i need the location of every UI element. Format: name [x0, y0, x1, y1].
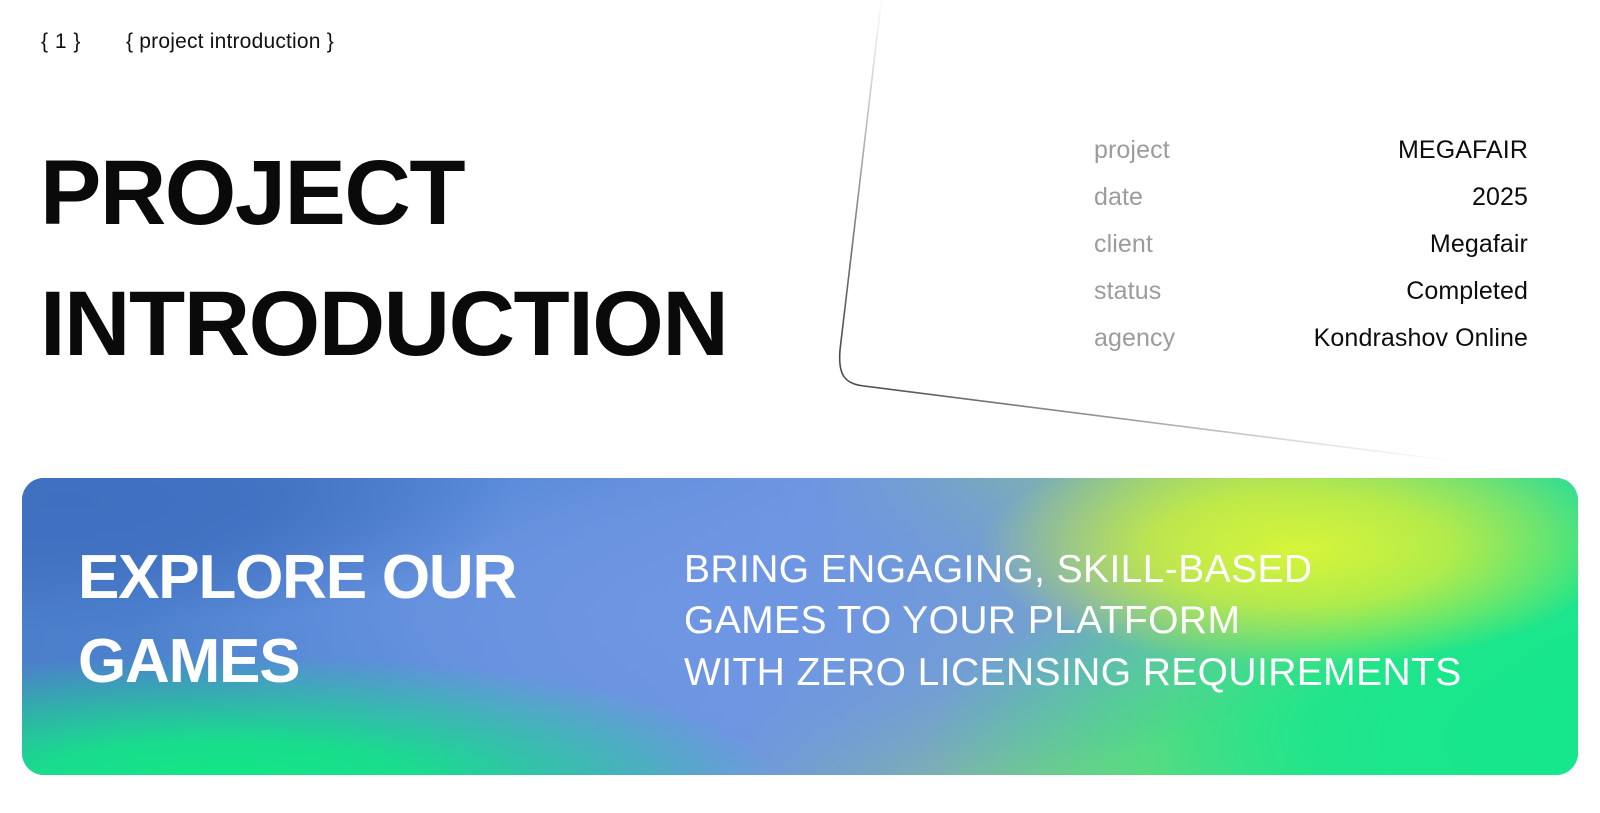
spec-row-client: client Megafair — [1094, 230, 1528, 277]
banner-subtitle-line-2: GAMES TO YOUR PLATFORM — [684, 595, 1462, 646]
page-title: PROJECT INTRODUCTION — [40, 128, 727, 389]
spec-row-status: status Completed — [1094, 277, 1528, 324]
banner-title-line-2: GAMES — [78, 620, 516, 704]
spec-key: project — [1094, 136, 1170, 165]
banner-subtitle: BRING ENGAGING, SKILL-BASED GAMES TO YOU… — [684, 544, 1462, 698]
spec-key: date — [1094, 183, 1143, 212]
banner-subtitle-line-3: WITH ZERO LICENSING REQUIREMENTS — [684, 647, 1462, 698]
banner-content: EXPLORE OUR GAMES BRING ENGAGING, SKILL-… — [22, 478, 1578, 775]
spec-key: agency — [1094, 324, 1175, 353]
spec-key: status — [1094, 277, 1161, 306]
banner-subtitle-line-1: BRING ENGAGING, SKILL-BASED — [684, 544, 1462, 595]
spec-value: MEGAFAIR — [1398, 136, 1528, 165]
page-title-line-1: PROJECT — [40, 128, 727, 259]
page-title-line-2: INTRODUCTION — [40, 259, 727, 390]
spec-value: Megafair — [1430, 230, 1528, 259]
project-spec-table: project MEGAFAIR date 2025 client Megafa… — [1094, 136, 1528, 371]
status-badge: Completed — [1406, 277, 1528, 306]
spec-key: client — [1094, 230, 1153, 259]
section-label: { project introduction } — [126, 30, 334, 54]
spec-row-date: date 2025 — [1094, 183, 1528, 230]
spec-row-agency: agency Kondrashov Online — [1094, 324, 1528, 371]
banner-title-line-1: EXPLORE OUR — [78, 536, 516, 620]
spec-value: Kondrashov Online — [1314, 324, 1528, 353]
banner-title: EXPLORE OUR GAMES — [78, 536, 516, 703]
spec-row-project: project MEGAFAIR — [1094, 136, 1528, 183]
spec-value: 2025 — [1472, 183, 1528, 212]
explore-games-banner[interactable]: EXPLORE OUR GAMES BRING ENGAGING, SKILL-… — [22, 478, 1578, 775]
section-number: { 1 } — [41, 30, 81, 54]
